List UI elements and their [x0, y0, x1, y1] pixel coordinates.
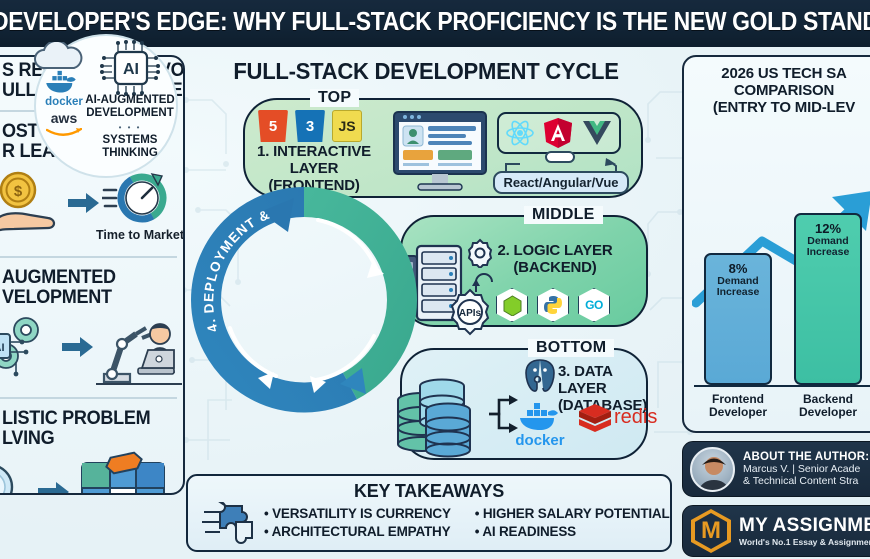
- postgresql-icon: [523, 358, 557, 394]
- svg-text:APIs: APIs: [459, 308, 482, 319]
- brand-name: MY ASSIGNMEN: [739, 515, 870, 537]
- html5-icon: HTML 5: [258, 110, 288, 142]
- cloud-icon: [30, 42, 88, 72]
- brand-text: MY ASSIGNMEN World's No.1 Essay & Assign…: [739, 515, 870, 547]
- react-icon: [505, 118, 535, 148]
- lane-tag-top: TOP: [310, 89, 359, 107]
- chart-x-axis: [694, 385, 870, 387]
- bullet: •: [475, 524, 480, 539]
- redis-icon: [578, 402, 612, 434]
- bar-tick-frontend-label: Frontend Developer: [696, 393, 780, 419]
- javascript-icon: JS: [332, 110, 362, 142]
- takeaway-item: • VERSATILITY IS CURRENCY: [264, 505, 451, 523]
- docker-label: docker: [505, 432, 575, 449]
- takeaway-label: AI READINESS: [482, 524, 576, 539]
- bullet: •: [475, 506, 480, 521]
- javascript-glyph: JS: [333, 111, 361, 141]
- arrow-right-icon: [38, 481, 70, 495]
- nodejs-icon: [496, 288, 528, 322]
- left-art-holistic: [0, 453, 183, 495]
- bar-percent-backend: 12%: [796, 221, 860, 236]
- takeaway-item: • ARCHITECTURAL EMPATHY: [264, 523, 451, 541]
- takeaway-label: ARCHITECTURAL EMPATHY: [272, 524, 451, 539]
- bar-sub-backend: Demand Increase: [796, 236, 860, 258]
- bar-tick-backend-label: Backend Developer: [786, 393, 870, 419]
- html5-glyph: 5: [258, 110, 288, 142]
- my-assignment-logo-icon: M: [691, 509, 731, 553]
- left-section-heading-line1: AUGMENTED: [2, 268, 166, 288]
- python-icon: [537, 288, 569, 322]
- backend-stack-chips: GO: [496, 288, 610, 322]
- left-section-heading-line2: VELOPMENT: [2, 288, 166, 308]
- ring-inner-line2: DEVELOPMENT: [80, 107, 180, 120]
- ring-inner-line1: AI-AUGMENTED: [80, 94, 180, 107]
- css3-glyph: 3: [295, 110, 325, 142]
- arrow-right-icon: [68, 192, 100, 214]
- puzzle-grid-icon: [76, 451, 172, 495]
- key-takeaways-panel: KEY TAKEAWAYS • VERSATILITY IS CURRENCY …: [186, 474, 672, 552]
- chart-title-line3: (ENTRY TO MID-LEV: [684, 99, 870, 116]
- divider: [0, 397, 177, 399]
- ring-inner-text: AI-AUGMENTED DEVELOPMENT • • • SYSTEMS T…: [80, 94, 180, 160]
- database-arrows: [487, 392, 521, 436]
- divider: [0, 256, 177, 258]
- frontend-stack-chips: HTML 5 CSS 3 JS: [258, 110, 362, 142]
- author-line2: & Technical Content Stra: [743, 475, 869, 487]
- arrow-right-icon: [62, 336, 94, 358]
- data-label-line1: 3. DATA LAYER: [558, 363, 650, 397]
- ring-inner-line3: SYSTEMS: [80, 134, 180, 147]
- left-section-heading-line1: LISTIC PROBLEM: [2, 409, 166, 429]
- salary-chart-panel: 2026 US TECH SA COMPARISON (ENTRY TO MID…: [682, 55, 870, 433]
- infographic-page: DEVELOPER'S EDGE: WHY FULL-STACK PROFICI…: [0, 0, 870, 559]
- redis-label: redis: [614, 406, 657, 429]
- lane-tag-bottom: BOTTOM: [528, 339, 614, 357]
- svg-text:$: $: [14, 183, 23, 200]
- page-title: DEVELOPER'S EDGE: WHY FULL-STACK PROFICI…: [0, 8, 775, 37]
- left-section-holistic: LISTIC PROBLEM LVING: [0, 403, 183, 453]
- left-section-ai-augmented: AUGMENTED VELOPMENT: [0, 262, 183, 312]
- author-avatar: [690, 447, 735, 492]
- go-glyph: GO: [585, 298, 603, 312]
- left-art-ai: AI: [0, 312, 183, 392]
- takeaway-item: • AI READINESS: [475, 523, 670, 541]
- backend-label-line1: 2. LOGIC LAYER: [480, 242, 630, 259]
- svg-text:AI: AI: [123, 61, 139, 78]
- ring-inner-dots: • • •: [80, 123, 180, 132]
- bar-sub-frontend: Demand Increase: [706, 276, 770, 298]
- bar-backend: 12% Demand Increase: [794, 213, 862, 385]
- ai-gear-icon: AI: [0, 312, 58, 384]
- bar-percent-frontend: 8%: [706, 261, 770, 276]
- author-box: ABOUT THE AUTHOR: Marcus V. | Senior Aca…: [682, 441, 870, 497]
- devops-cycle-ring: 4. DEPLOYMENT & DEVOPS: [190, 186, 418, 414]
- framework-callout-label: React/Angular/Vue: [493, 171, 629, 194]
- coin-in-hand-icon: $: [0, 168, 64, 240]
- lane-tag-middle: MIDDLE: [524, 206, 603, 224]
- robot-arm-developer-icon: [94, 310, 184, 392]
- docker-whale-icon: [42, 70, 80, 96]
- ring-inner-line4: THINKING: [80, 147, 180, 160]
- angular-icon: [543, 117, 573, 149]
- center-title: FULL-STACK DEVELOPMENT CYCLE: [205, 58, 647, 85]
- bullet: •: [264, 524, 269, 539]
- browser-window-icon: [392, 110, 488, 192]
- frontend-frameworks-chips: [497, 112, 621, 154]
- devops-ring-center: docker aws AI AI-AUGMENTED DEVE: [34, 34, 178, 178]
- ai-chip-icon: AI: [100, 40, 162, 96]
- bar-sub-backend-l2: Increase: [796, 247, 860, 258]
- author-text: ABOUT THE AUTHOR: Marcus V. | Senior Aca…: [743, 451, 869, 487]
- author-line1: Marcus V. | Senior Acade: [743, 463, 869, 475]
- aws-smile-icon: [46, 128, 82, 138]
- takeaways-column-left: • VERSATILITY IS CURRENCY • ARCHITECTURA…: [264, 505, 451, 541]
- go-icon: GO: [578, 288, 610, 322]
- vue-icon: [581, 119, 613, 147]
- docker-whale-icon: [518, 400, 560, 434]
- takeaway-label: HIGHER SALARY POTENTIAL: [483, 506, 670, 521]
- bar-frontend: 8% Demand Increase: [704, 253, 772, 385]
- takeaways-column-right: • HIGHER SALARY POTENTIAL • AI READINESS: [475, 505, 670, 541]
- takeaways-columns: • VERSATILITY IS CURRENCY • ARCHITECTURA…: [264, 505, 670, 541]
- author-heading: ABOUT THE AUTHOR:: [743, 451, 869, 463]
- svg-text:AI: AI: [0, 342, 5, 354]
- takeaways-title: KEY TAKEAWAYS: [188, 481, 670, 502]
- bar-sub-frontend-l2: Increase: [706, 287, 770, 298]
- left-art-cost: $ Time to Market: [0, 166, 183, 252]
- chart-title: 2026 US TECH SA COMPARISON (ENTRY TO MID…: [684, 65, 870, 116]
- chart-title-line1: 2026 US TECH SA: [684, 65, 870, 82]
- left-section-heading-line2: LVING: [2, 429, 166, 449]
- takeaway-item: • HIGHER SALARY POTENTIAL: [475, 505, 670, 523]
- frontend-label-line1: 1. INTERACTIVE LAYER: [243, 143, 385, 177]
- takeaway-label: VERSATILITY IS CURRENCY: [272, 506, 451, 521]
- left-art-caption: Time to Market: [94, 228, 185, 242]
- puzzle-piece-icon: [202, 502, 264, 546]
- brand-tagline: World's No.1 Essay & Assignment He: [739, 537, 870, 547]
- bullet: •: [264, 506, 269, 521]
- chart-title-line2: COMPARISON: [684, 82, 870, 99]
- brand-mark-letter: M: [691, 509, 731, 553]
- brand-box: M MY ASSIGNMEN World's No.1 Essay & Assi…: [682, 505, 870, 557]
- bar-tick-frontend: Frontend Developer: [696, 393, 780, 419]
- lightbulb-icon: [0, 459, 28, 495]
- bar-tick-backend: Backend Developer: [786, 393, 870, 419]
- css3-icon: CSS 3: [295, 110, 325, 142]
